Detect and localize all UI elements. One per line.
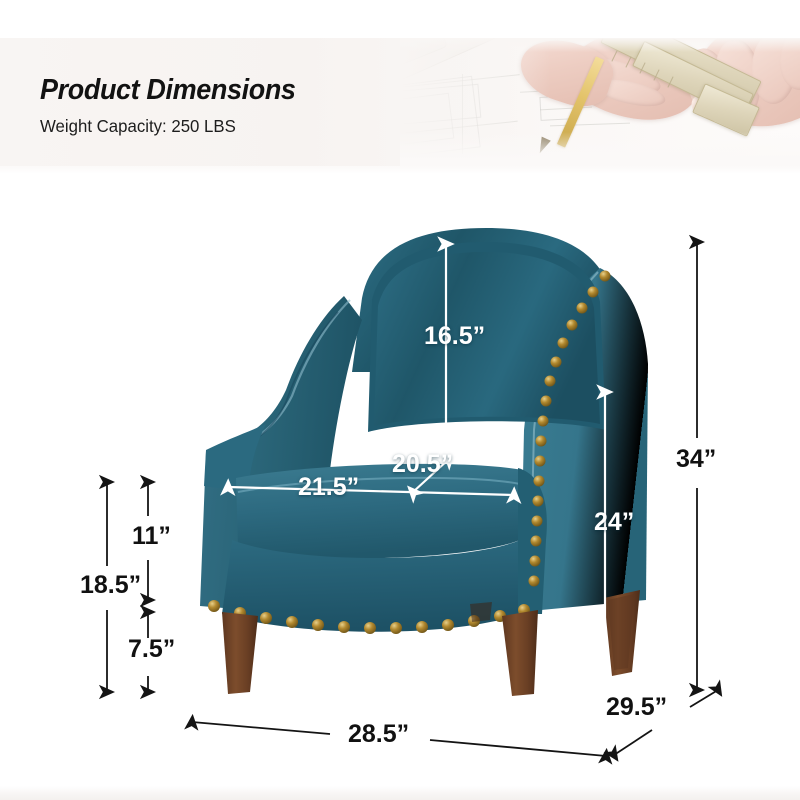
dimension-label-seat-depth: 20.5” <box>392 452 453 477</box>
dimension-label-arm-height: 24” <box>594 510 634 535</box>
dimension-label-seat-height: 11” <box>132 524 171 549</box>
photo-fade-bottom <box>400 132 800 166</box>
footer-band <box>0 786 800 800</box>
dimension-label-seat-to-floor: 18.5” <box>80 573 141 598</box>
dimension-label-seat-back-height: 16.5” <box>424 324 485 349</box>
dimension-label-seat-width: 21.5” <box>298 475 359 500</box>
dimension-label-overall-width: 28.5” <box>348 722 409 747</box>
dimension-label-overall-depth: 29.5” <box>606 695 667 720</box>
photo-fade-top <box>400 38 800 52</box>
dimension-label-clearance-height: 7.5” <box>128 637 175 662</box>
dimension-label-overall-height: 34” <box>676 447 716 472</box>
product-dimensions-infographic: Product Dimensions Weight Capacity: 250 … <box>0 0 800 800</box>
